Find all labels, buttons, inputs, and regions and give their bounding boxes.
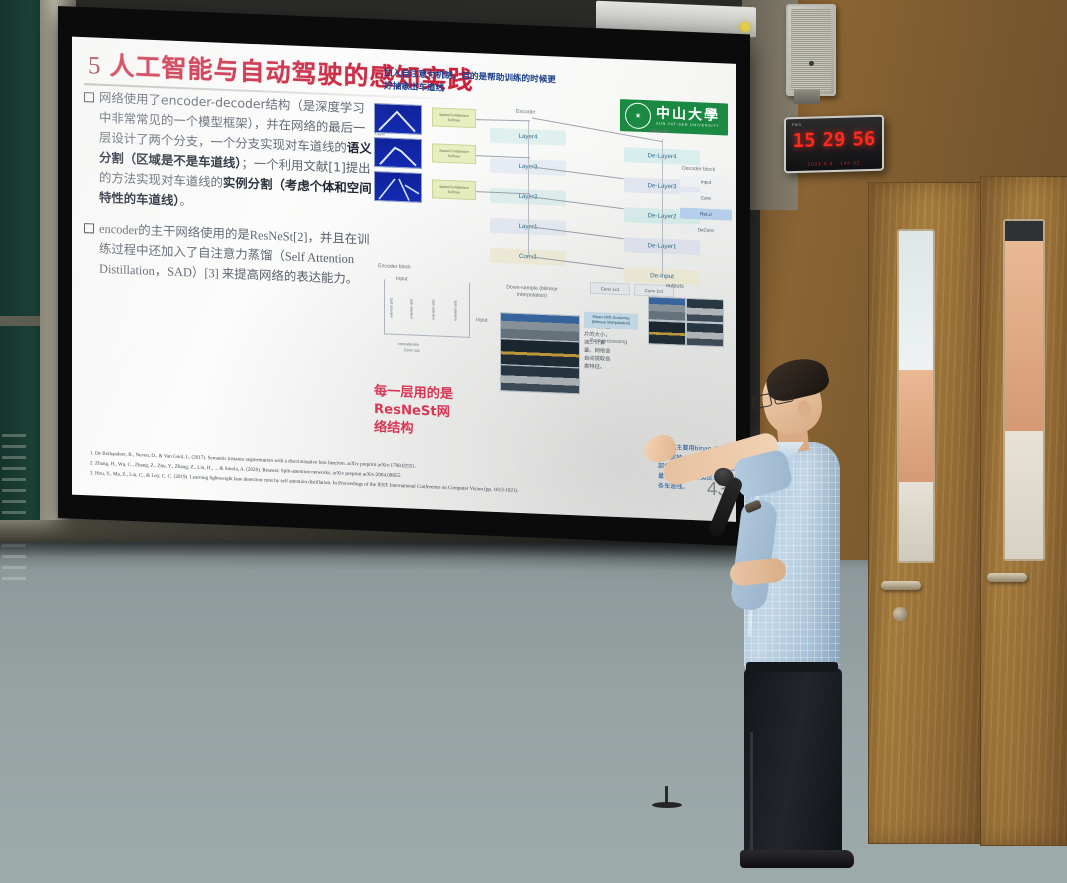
lecture-hall-scene: 5 人工智能与自动驾驶的感知实践 ★ 中山大學 SUN YAT-SEN UNIV… [0,0,1067,883]
mic-stand-base [652,802,682,808]
bullet-text: 网络使用了encoder-decoder结构（是深度学习中非常常见的一个模型框架… [99,88,376,220]
door-lock-left[interactable] [893,607,907,621]
presentation-slide: 5 人工智能与自动驾驶的感知实践 ★ 中山大學 SUN YAT-SEN UNIV… [72,37,736,522]
clock-temp: 14h 52 [840,160,860,166]
tray-shadow [0,542,740,558]
decoder-item-input: Input [680,176,732,189]
presenter-belt [746,662,838,672]
presenter-shoe-right [788,850,854,868]
bullet-seg: 网络使用了encoder-decoder结构（是深度学习中非常常见的一个模型框架… [99,90,365,155]
input-label: Input [476,317,488,323]
attention-link [476,119,530,121]
concat-label: concatenate [398,342,419,347]
bullet-seg: 。 [180,193,192,209]
slide-bullet-list: 网络使用了encoder-decoder结构（是深度学习中非常常见的一个模型框架… [84,87,376,300]
decoder-label: Decoder [650,128,670,135]
presenter-trousers [744,668,842,864]
trouser-crease [750,732,753,864]
output-image-4 [686,322,724,348]
mean-shift-chip: Mean-shift clustering (bilinear interpol… [584,312,638,330]
screen-case-led-icon [740,22,750,32]
clock-hours: 15 [793,129,816,152]
bullet-item: 网络使用了encoder-decoder结构（是深度学习中非常常见的一个模型框架… [84,87,376,220]
encoder-label: Encoder [516,109,535,116]
attention-map-caption: Layer [375,131,385,136]
decoder-flow-line [662,139,663,275]
decoder-item-deconv: DeConv [680,224,732,237]
softmax-box-1: Spatial Comparison Softmax [432,107,476,128]
decoder-block-detail: Decoder block Input Conv ReLU DeConv [680,176,732,242]
slide-title-number: 5 [88,52,101,81]
output-image-2 [686,298,724,324]
clock-minutes: 29 [823,129,846,152]
speaker-grill [791,9,831,91]
split-attention-1: Split attention [386,285,397,329]
bullet-square-icon [84,223,94,233]
case-chip-1: Conv 1x1 [590,282,630,296]
bullet-item: encoder的主干网络使用的是ResNeSt[2]，并且在训练过程中还加入了自… [84,218,376,290]
input-road-image-3 [500,364,580,394]
door-window-left [897,229,935,563]
clock-date: 2024 9 8 [808,161,834,167]
outputs-label: outputs [666,283,684,290]
attention-map-1 [374,103,422,135]
output-image-3 [648,320,686,346]
presenter [700,350,890,870]
window-sill [899,482,933,561]
encoder-block-detail: Encoder block Input Split attention Spli… [374,263,478,353]
clock-time-display: 15 29 56 [786,128,882,153]
wall-speaker [786,4,836,96]
softmax-box-3: Spatial Comparison Softmax [432,179,476,200]
attention-map-2 [374,137,422,169]
door-right[interactable] [980,176,1067,846]
bullet-square-icon [84,92,94,102]
window-sky [899,231,933,370]
speaker-led [809,61,814,66]
output-image-1 [648,296,686,322]
downsample-label: Down-sample (bilinear interpolation) [500,284,564,300]
digital-wall-clock: Fara 15 29 56 2024 9 8 14h 52 [784,115,884,174]
window-building [1005,241,1043,430]
concat-conv-label: Conv 1x1 [404,348,420,353]
decoder-item-relu: ReLU [680,208,732,221]
door-window-right [1003,219,1045,561]
encoder-flow-line [528,121,529,257]
split-attention-4: Split attention [450,288,461,332]
decoder-block-title: Decoder block [682,166,715,173]
bullet-text: encoder的主干网络使用的是ResNeSt[2]，并且在训练过程中还加入了自… [99,218,376,290]
softmax-box-2: Spatial Comparison Softmax [432,143,476,164]
microphone-stand [652,786,682,808]
encoder-block-title: Encoder block [378,263,411,270]
red-annotation-resnest: 每一层用的是ResNeSt网络结构 [374,383,460,440]
projection-screen: 5 人工智能与自动驾驶的感知实践 ★ 中山大學 SUN YAT-SEN UNIV… [58,6,750,546]
split-attention-3: Split attention [428,287,439,331]
split-attention-2: Split attention [406,286,417,330]
clock-seconds: 56 [852,128,875,151]
window-building [899,370,933,482]
door-handle-right[interactable] [987,573,1027,582]
decoder-item-conv: Conv [680,192,732,205]
clock-brand-label: Fara [792,122,801,127]
clock-secondary-display: 2024 9 8 14h 52 [786,160,882,168]
diagram-top-note: 加入自注意力机制，目的是帮助训练的时候更好抽象出车道线 [384,67,564,100]
attention-map-3 [374,171,422,203]
speaker-mount [794,90,820,104]
